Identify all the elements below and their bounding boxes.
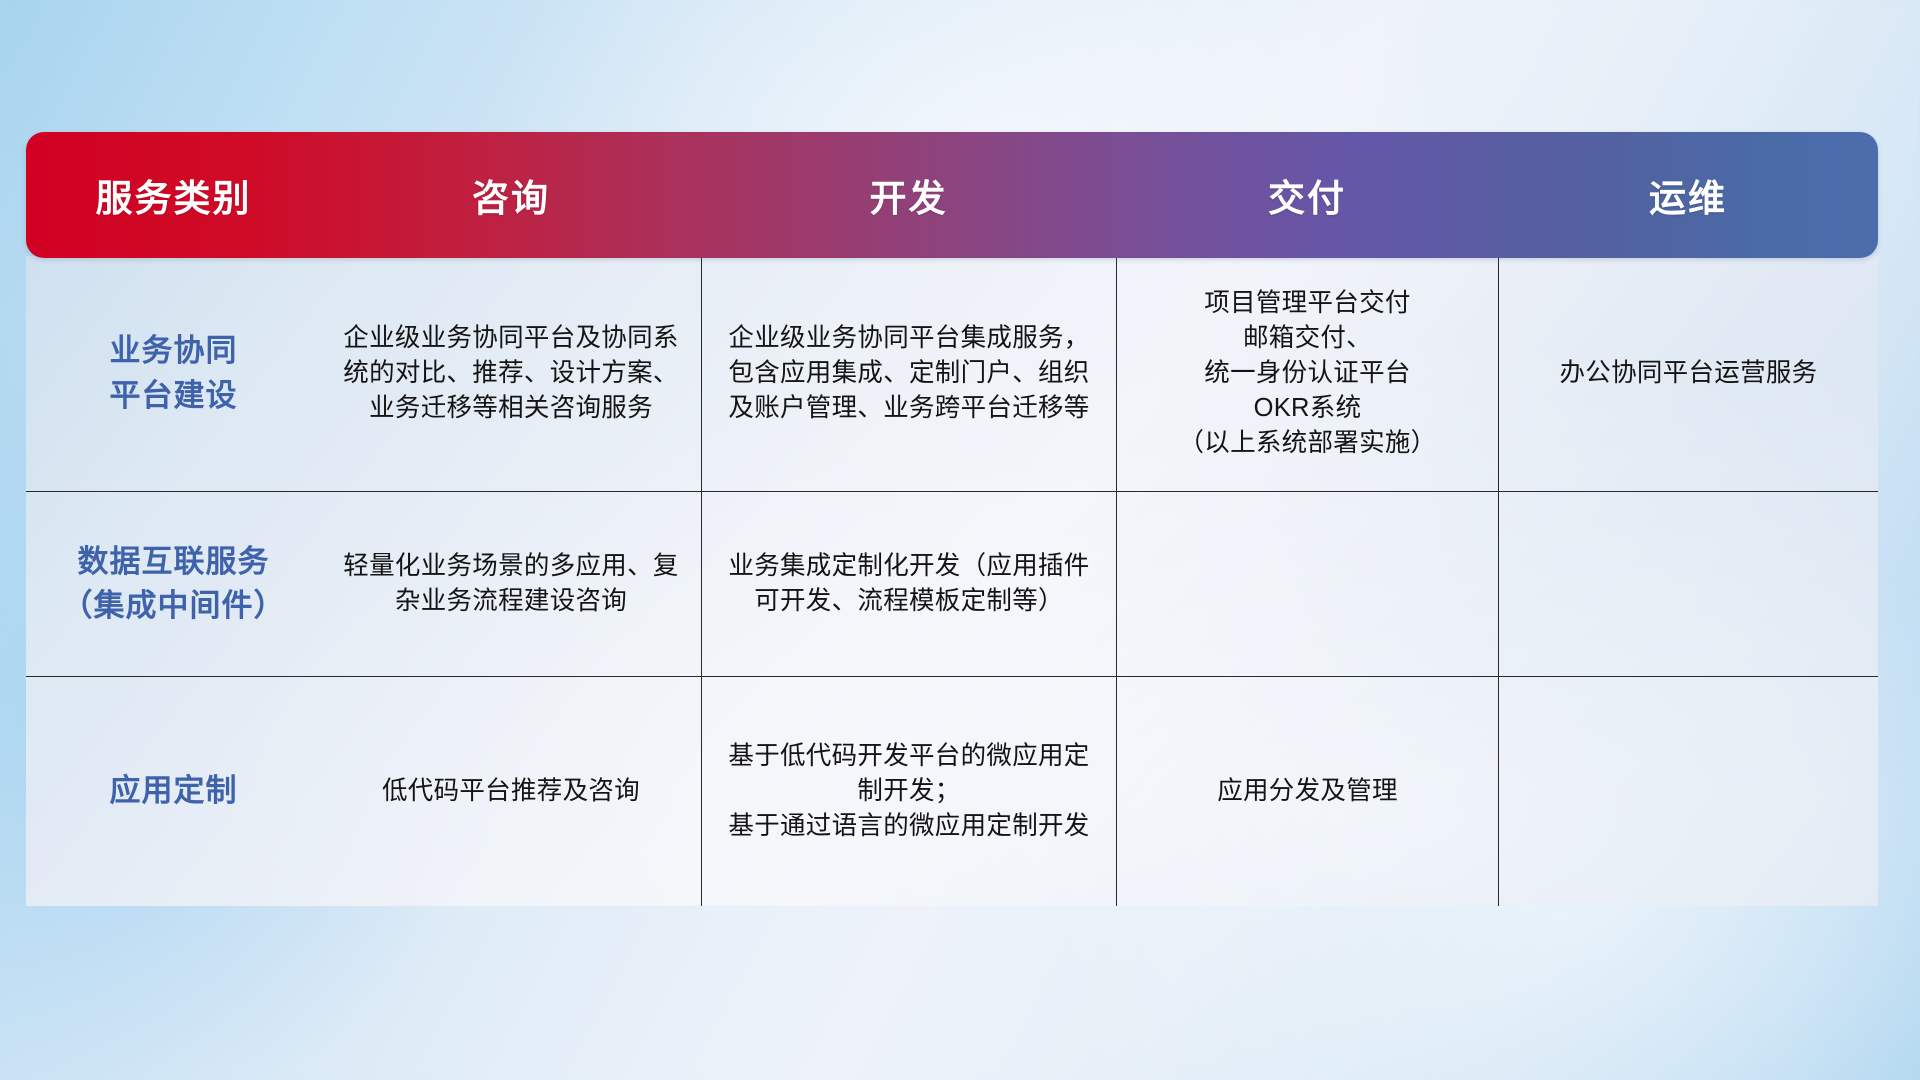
cell-operations: 办公协同平台运营服务 xyxy=(1498,256,1878,491)
table-row: 业务协同 平台建设 企业级业务协同平台及协同系 统的对比、推荐、设计方案、 业务… xyxy=(26,256,1878,491)
cell-consulting: 轻量化业务场景的多应用、复 杂业务流程建设咨询 xyxy=(321,491,701,676)
cell-development: 业务集成定制化开发（应用插件 可开发、流程模板定制等） xyxy=(701,491,1116,676)
table-header-cell-development: 开发 xyxy=(701,132,1116,258)
table-header-cell-delivery: 交付 xyxy=(1116,132,1498,258)
cell-delivery: 项目管理平台交付 邮箱交付、 统一身份认证平台 OKR系统 （以上系统部署实施） xyxy=(1116,256,1498,491)
cell-development: 基于低代码开发平台的微应用定 制开发； 基于通过语言的微应用定制开发 xyxy=(701,676,1116,906)
row-category-label: 数据互联服务 （集成中间件） xyxy=(26,491,321,676)
row-category-label: 应用定制 xyxy=(26,676,321,906)
cell-operations xyxy=(1498,676,1878,906)
table-row: 数据互联服务 （集成中间件） 轻量化业务场景的多应用、复 杂业务流程建设咨询 业… xyxy=(26,491,1878,676)
row-category-label: 业务协同 平台建设 xyxy=(26,256,321,491)
table-header-cell-category: 服务类别 xyxy=(26,132,321,258)
table-row: 应用定制 低代码平台推荐及咨询 基于低代码开发平台的微应用定 制开发； 基于通过… xyxy=(26,676,1878,906)
cell-development: 企业级业务协同平台集成服务， 包含应用集成、定制门户、组织 及账户管理、业务跨平… xyxy=(701,256,1116,491)
table-header-cell-operations: 运维 xyxy=(1498,132,1878,258)
cell-consulting: 低代码平台推荐及咨询 xyxy=(321,676,701,906)
cell-consulting: 企业级业务协同平台及协同系 统的对比、推荐、设计方案、 业务迁移等相关咨询服务 xyxy=(321,256,701,491)
table-header-cell-consulting: 咨询 xyxy=(321,132,701,258)
service-matrix-table: 服务类别 咨询 开发 交付 运维 业务协同 平台建设 企业级业务协同平台及协同系… xyxy=(26,132,1878,906)
cell-operations xyxy=(1498,491,1878,676)
cell-delivery xyxy=(1116,491,1498,676)
table-body: 业务协同 平台建设 企业级业务协同平台及协同系 统的对比、推荐、设计方案、 业务… xyxy=(26,256,1878,906)
cell-delivery: 应用分发及管理 xyxy=(1116,676,1498,906)
table-header-row: 服务类别 咨询 开发 交付 运维 xyxy=(26,132,1878,258)
